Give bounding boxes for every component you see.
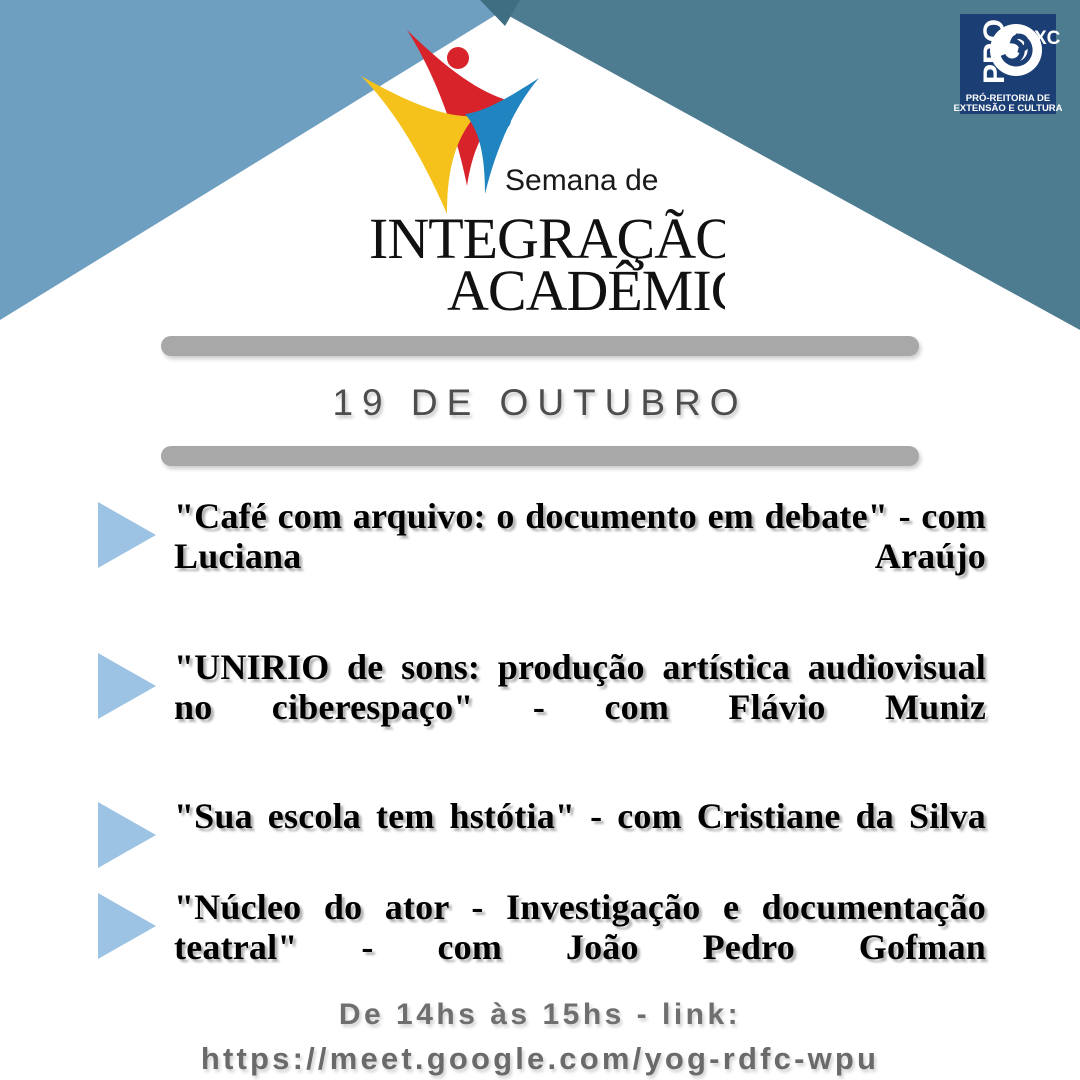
divider-bar-top [161,336,919,356]
list-item: "UNIRIO de sons: produção artística audi… [0,647,1080,768]
event-logo: Semana de INTEGRAÇÃO ACADÊMICA [355,18,725,318]
session-title: "UNIRIO de sons: produção artística audi… [174,647,986,768]
header-logo-block: Semana de INTEGRAÇÃO ACADÊMICA PRO XC PR… [0,0,1080,330]
proexc-xc-text: XC [1034,28,1061,49]
logo-kicker: Semana de [505,164,658,197]
proexc-subtitle-2: EXTENSÃO E CULTURA [954,103,1062,114]
session-title: "Núcleo do ator - Investigação e documen… [174,887,986,1008]
arrow-right-icon [98,653,156,719]
date-label: 19 DE OUTUBRO [332,382,747,424]
footer: De 14hs às 15hs - link: https://meet.goo… [0,998,1080,1077]
poster-root: Semana de INTEGRAÇÃO ACADÊMICA PRO XC PR… [0,0,1080,1080]
session-title: "Sua escola tem hstótia" - com Cristiane… [174,796,986,877]
list-item: "Café com arquivo: o documento em debate… [0,496,1080,617]
logo-title-2: ACADÊMICA [447,258,725,318]
arrow-right-icon [98,893,156,959]
arrow-right-icon [98,802,156,868]
list-item: "Núcleo do ator - Investigação e documen… [0,887,1080,1008]
footer-meeting-link[interactable]: https://meet.google.com/yog-rdfc-wpu [0,1041,1080,1077]
list-item: "Sua escola tem hstótia" - com Cristiane… [0,796,1080,877]
session-title: "Café com arquivo: o documento em debate… [174,496,986,617]
session-list: "Café com arquivo: o documento em debate… [0,496,1080,1007]
footer-time-label: De 14hs às 15hs - link: [0,998,1080,1032]
date-banner: 19 DE OUTUBRO [0,336,1080,466]
divider-bar-bottom [161,446,919,466]
arrow-right-icon [98,502,156,568]
proexc-logo: PRO XC PRÓ-REITORIA DE EXTENSÃO E CULTUR… [954,10,1062,118]
